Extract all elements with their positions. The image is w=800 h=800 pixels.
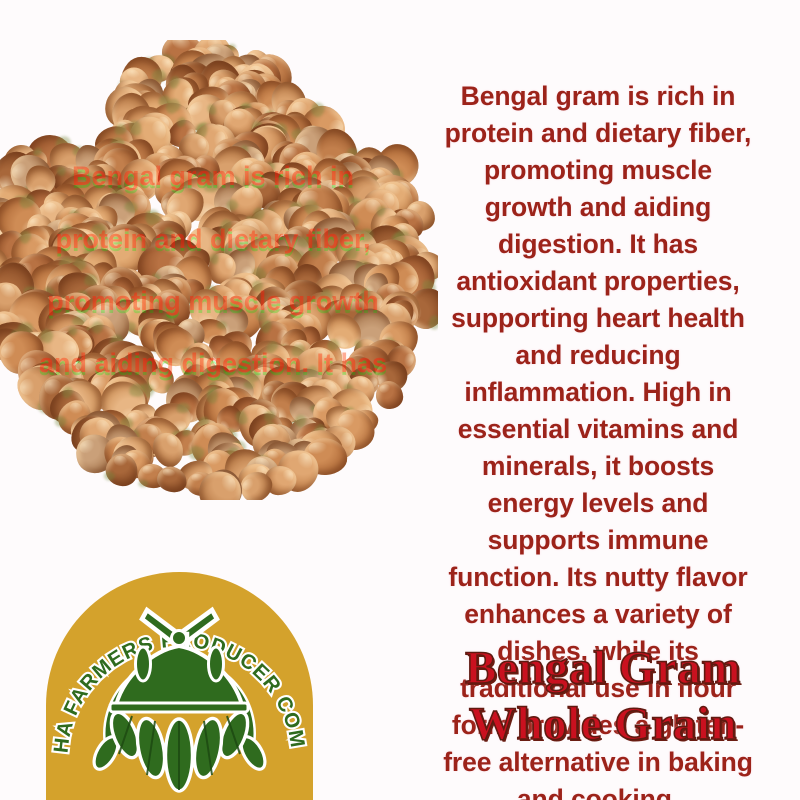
chickpea-pile	[0, 40, 438, 500]
logo-emblem-svg: NRUSHIMHA FARMERS PRODUCER COMPANY LTD	[46, 572, 313, 800]
farm-dome-base-icon	[110, 703, 248, 712]
product-title-line-2: Whole Grain	[438, 696, 768, 752]
windmill-hub-icon	[172, 631, 187, 646]
product-title: Bengal Gram Whole Grain	[438, 640, 768, 752]
product-image: Bengal gram is rich inprotein and dietar…	[0, 40, 438, 500]
company-logo: NRUSHIMHA FARMERS PRODUCER COMPANY LTD	[46, 572, 313, 800]
poster: Bengal gram is rich inprotein and dietar…	[0, 0, 800, 800]
product-title-line-1: Bengal Gram	[438, 640, 768, 696]
